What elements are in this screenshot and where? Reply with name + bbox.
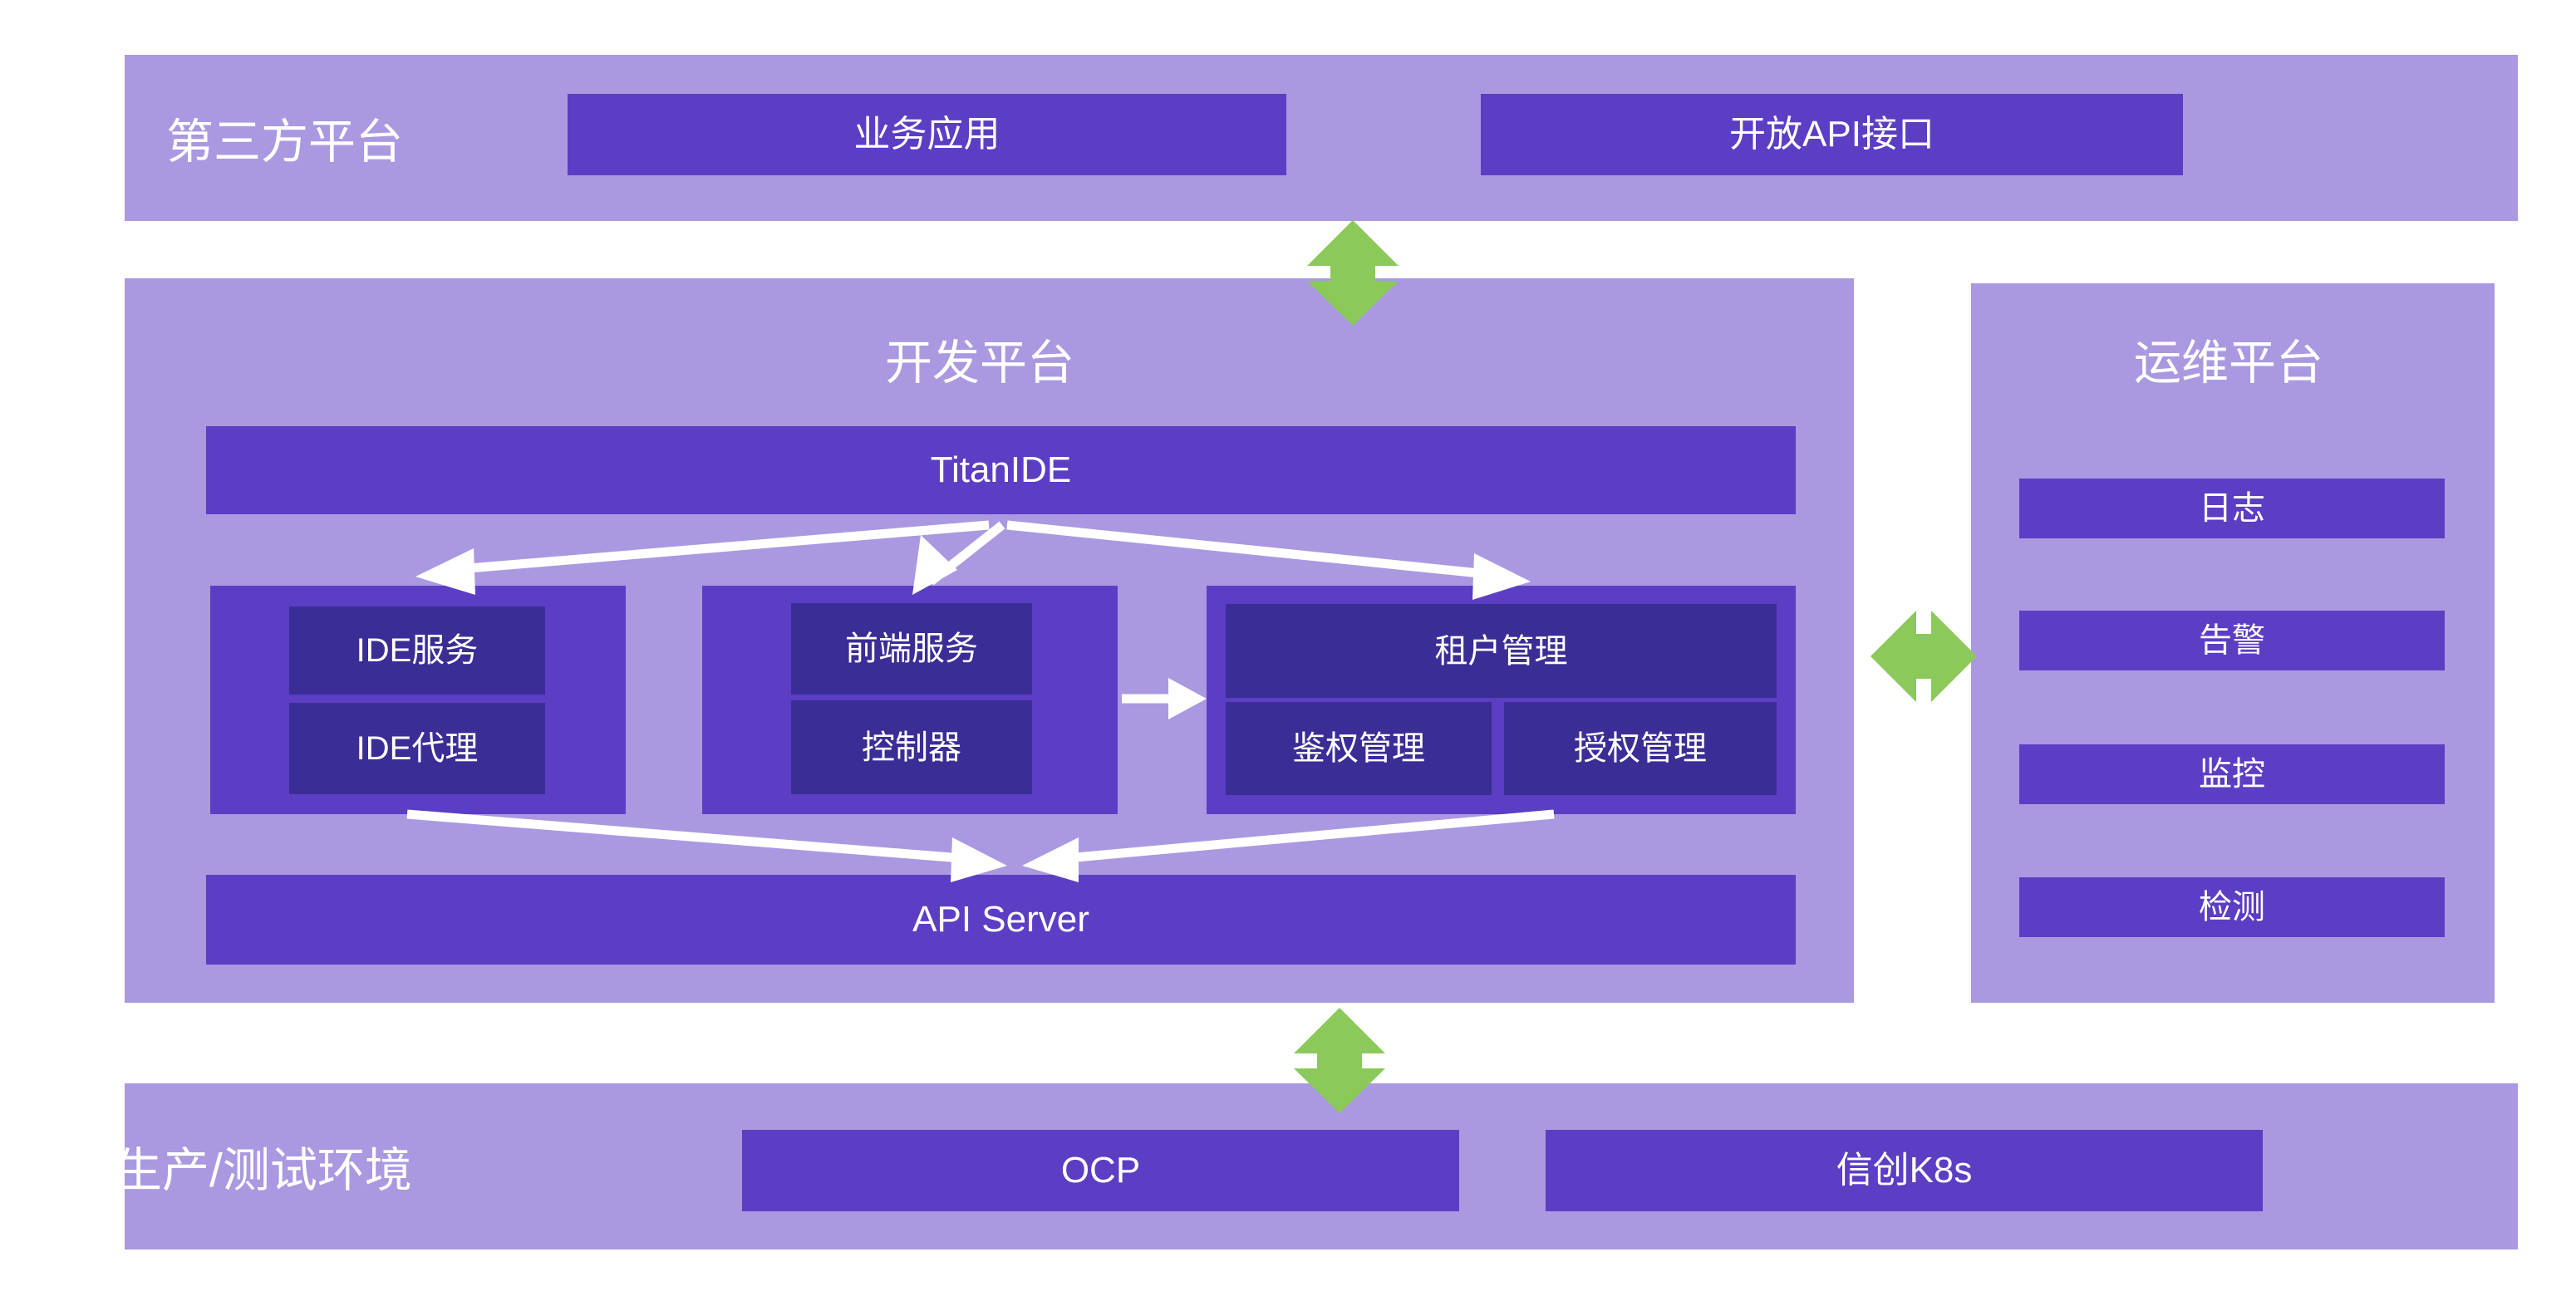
authorization-management-box[interactable]: 授权管理 [1504, 702, 1777, 795]
controller-box[interactable]: 控制器 [791, 700, 1032, 794]
frontend-service-box[interactable]: 前端服务 [791, 603, 1032, 695]
ops-item-log[interactable]: 日志 [2019, 479, 2445, 538]
green-arrow-right-icon [1871, 611, 1977, 702]
third-party-platform-title: 第三方平台 [166, 111, 403, 164]
ops-item-monitor[interactable]: 监控 [2019, 744, 2445, 804]
env-platform-title: 生产/测试环境 [115, 1140, 412, 1193]
ocp-box[interactable]: OCP [742, 1130, 1459, 1211]
authentication-management-box[interactable]: 鉴权管理 [1226, 702, 1492, 795]
tenant-management-box[interactable]: 租户管理 [1226, 604, 1777, 698]
open-api-interface-box[interactable]: 开放API接口 [1481, 94, 2183, 175]
business-application-box[interactable]: 业务应用 [568, 94, 1286, 175]
xinchuang-k8s-box[interactable]: 信创K8s [1546, 1130, 2263, 1211]
ide-agent-box[interactable]: IDE代理 [289, 703, 545, 794]
ops-platform-title: 运维平台 [2134, 332, 2323, 385]
ops-item-alert[interactable]: 告警 [2019, 611, 2445, 670]
architecture-diagram: 第三方平台 业务应用 开放API接口 开发平台 TitanIDE IDE服务 I… [0, 0, 2576, 1306]
dev-platform-title: 开发平台 [885, 332, 1074, 385]
ops-item-detection[interactable]: 检测 [2019, 877, 2445, 937]
ide-service-box[interactable]: IDE服务 [289, 606, 545, 695]
titanide-box[interactable]: TitanIDE [206, 426, 1796, 514]
api-server-box[interactable]: API Server [206, 875, 1796, 965]
